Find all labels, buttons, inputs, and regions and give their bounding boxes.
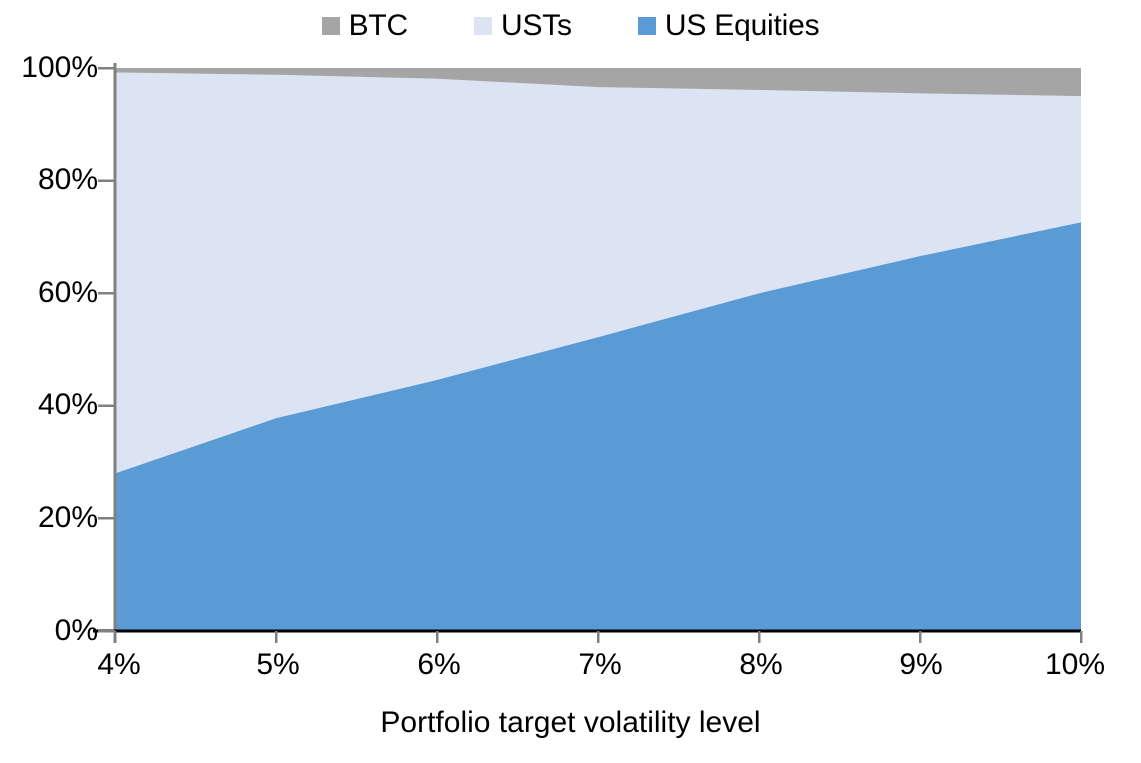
chart-plot-area: 100% 80% 60% 40% 20% 0% 4% 5% 6% 7% 8% 9… (0, 0, 1141, 763)
y-tick-label-100: 100% (21, 53, 98, 83)
y-tick-label-80: 80% (38, 165, 98, 195)
stacked-area-chart (0, 0, 1141, 763)
x-axis-title: Portfolio target volatility level (0, 707, 1141, 739)
x-tick-label-4: 4% (97, 650, 140, 680)
y-tick-label-40: 40% (38, 390, 98, 420)
y-tick-label-0: 0% (55, 616, 98, 646)
series-layer (115, 68, 1081, 631)
x-tick-label-6: 6% (417, 650, 460, 680)
y-tick-label-60: 60% (38, 278, 98, 308)
x-tick-label-9: 9% (899, 650, 942, 680)
x-tick-label-7: 7% (578, 650, 621, 680)
y-tick-label-20: 20% (38, 503, 98, 533)
x-tick-label-5: 5% (256, 650, 299, 680)
x-tick-label-8: 8% (739, 650, 782, 680)
x-tick-label-10: 10% (1045, 650, 1105, 680)
